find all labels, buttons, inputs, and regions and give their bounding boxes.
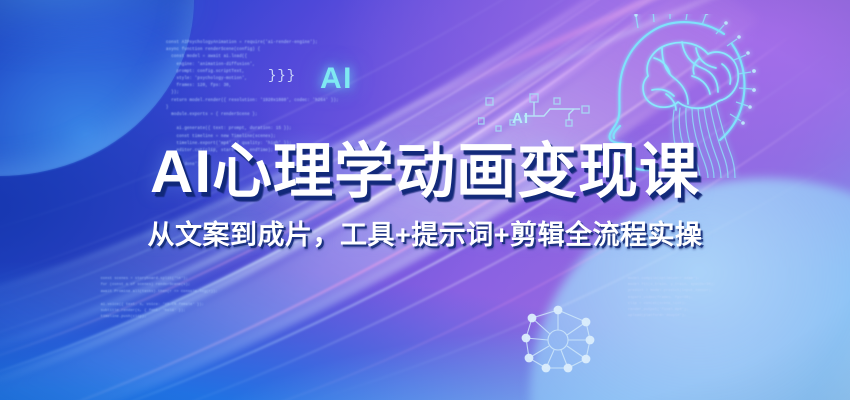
circuit-icon bbox=[478, 92, 598, 144]
ai-label-large: AI bbox=[320, 62, 353, 96]
page-subtitle: 从文案到成片，工具+提示词+剪辑全流程实操 bbox=[0, 222, 850, 249]
ai-label-small: AI bbox=[512, 110, 529, 127]
course-promo-banner: const AIPsychologyAnimation = require('a… bbox=[0, 0, 850, 400]
code-brace: }}} bbox=[268, 68, 296, 84]
network-nodes-icon bbox=[506, 296, 610, 380]
page-title: AI心理学动画变现课 bbox=[0, 142, 850, 202]
